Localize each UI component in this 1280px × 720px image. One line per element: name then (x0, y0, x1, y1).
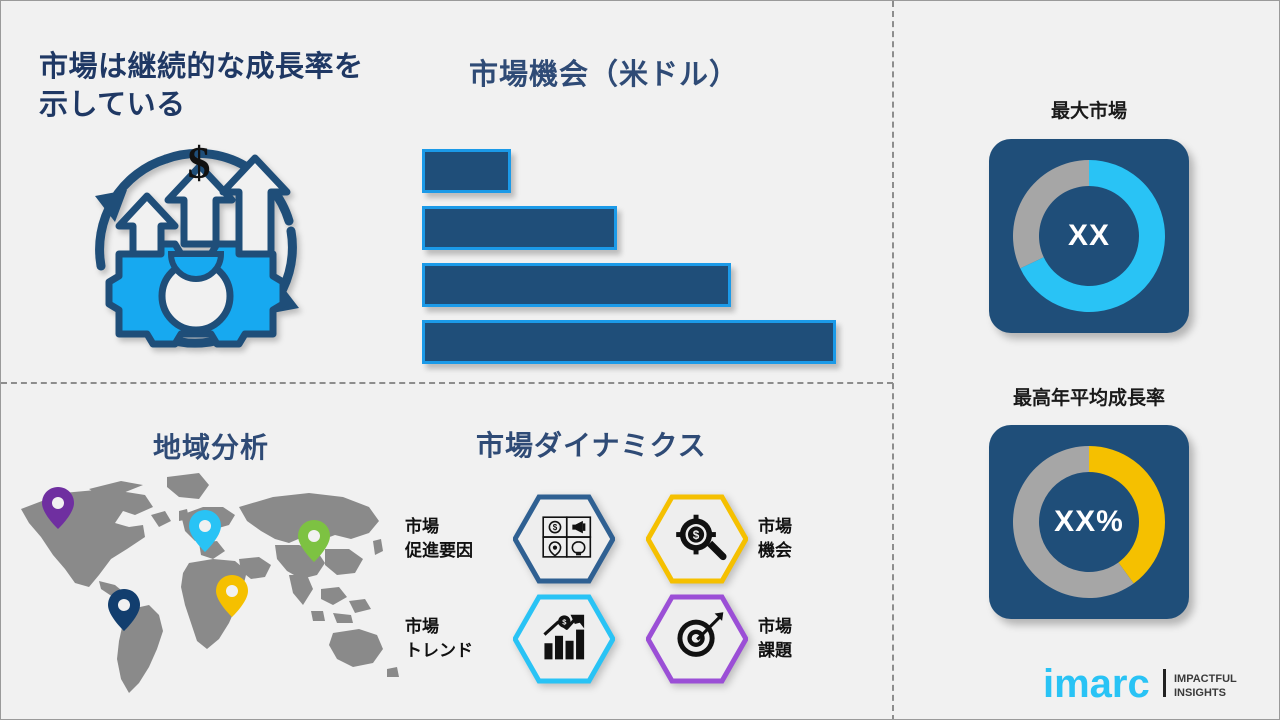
horizontal-divider (1, 382, 893, 384)
infographic-slide: 市場は継続的な成長率を示している $ 市場機会（米ドル） 最大市場 (0, 0, 1280, 720)
bar-4 (422, 320, 836, 364)
largest-market-title: 最大市場 (989, 96, 1189, 123)
dynamics-item-1[interactable]: $ 市場 促進要因 (405, 493, 665, 585)
bar-chart-growth-icon-hexagon[interactable]: $ (513, 593, 615, 685)
largest-market-value: XX (989, 139, 1189, 333)
dynamics-item-label-1: 市場 促進要因 (405, 515, 503, 563)
dynamics-item-label-2: 市場 機会 (758, 515, 868, 563)
bar-3 (422, 263, 731, 307)
logo-tagline-2: INSIGHTS (1174, 687, 1226, 699)
highest-cagr-card: XX% (989, 425, 1189, 619)
svg-text:$: $ (553, 523, 558, 532)
logo-tagline-1: IMPACTFUL (1174, 673, 1237, 685)
world-map (3, 463, 403, 703)
svg-text:$: $ (693, 529, 700, 542)
puzzle-strategy-icon-hexagon[interactable]: $ (513, 493, 615, 585)
bar-2 (422, 206, 617, 250)
largest-market-card: XX (989, 139, 1189, 333)
dynamics-item-4[interactable]: 市場 課題 (646, 593, 906, 685)
logo-wordmark: imarc (1043, 662, 1150, 706)
growth-heading: 市場は継続的な成長率を示している (39, 48, 389, 125)
magnifier-dollar-icon-hexagon[interactable]: $ (646, 493, 748, 585)
dynamics-item-3[interactable]: $ 市場 トレンド (405, 593, 665, 685)
highest-cagr-title: 最高年平均成長率 (979, 383, 1199, 410)
dynamics-heading: 市場ダイナミクス (476, 424, 707, 464)
highest-cagr-value: XX% (989, 425, 1189, 619)
bar-1 (422, 149, 511, 193)
growth-cycle-gear-icon: $ (71, 126, 321, 371)
opportunity-heading: 市場機会（米ドル） (469, 51, 739, 93)
regional-heading: 地域分析 (153, 426, 269, 466)
imarc-logo: imarc IMPACTFUL INSIGHTS (1043, 661, 1258, 707)
dynamics-item-label-4: 市場 課題 (758, 615, 868, 663)
dynamics-item-label-3: 市場 トレンド (405, 615, 503, 663)
target-dart-icon-hexagon[interactable] (646, 593, 748, 685)
dynamics-item-2[interactable]: $ 市場 機会 (646, 493, 906, 585)
dollar-symbol: $ (188, 137, 211, 188)
